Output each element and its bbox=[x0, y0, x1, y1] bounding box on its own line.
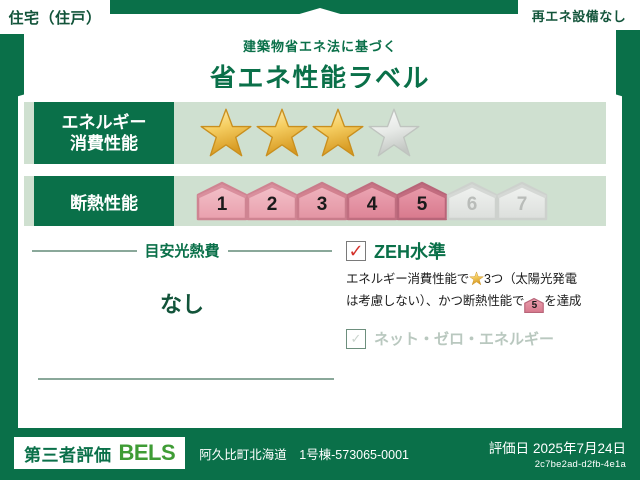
divider-left bbox=[32, 250, 137, 252]
house-grade-icon: 5 bbox=[524, 296, 544, 312]
label-footer: 第三者評価 BELS 阿久比町北海道 1号棟-573065-0001 評価日 2… bbox=[0, 426, 640, 480]
zeh-desc-part2: は考慮しない）、かつ断熱性能で bbox=[346, 294, 524, 308]
house-grade-icon-empty: 6 bbox=[446, 181, 498, 221]
house-grade-icon: 4 bbox=[346, 181, 398, 221]
star-icon bbox=[469, 271, 484, 292]
energy-label-line1: エネルギー bbox=[62, 112, 147, 133]
house-grade-icon: 1 bbox=[196, 181, 248, 221]
zeh-heading-row: ✓ ZEH水準 bbox=[346, 238, 608, 264]
grade-number: 6 bbox=[467, 194, 478, 221]
zeh-description: エネルギー消費性能で 3つ（太陽光発電は考慮しない）、かつ断熱性能で 5を達成 bbox=[346, 270, 608, 312]
grade-number: 4 bbox=[367, 194, 378, 221]
cost-bottom-divider bbox=[38, 378, 334, 380]
label-subtitle: 建築物省エネ法に基づく bbox=[0, 36, 640, 55]
energy-performance-label: 住宅（住戸） 再エネ設備なし 建築物省エネ法に基づく 省エネ性能ラベル エネルギ… bbox=[0, 0, 640, 480]
building-address: 阿久比町北海道 1号棟-573065-0001 bbox=[199, 444, 409, 463]
house-grade-icon: 2 bbox=[246, 181, 298, 221]
bels-jp-text: 第三者評価 bbox=[24, 441, 112, 466]
zeh-desc-grade: 5 bbox=[524, 296, 544, 315]
house-grade-icon: 3 bbox=[296, 181, 348, 221]
star-icon bbox=[255, 106, 309, 160]
insulation-performance-row: 断熱性能 1 2 bbox=[24, 176, 606, 226]
zeh-title: ZEH水準 bbox=[374, 238, 446, 264]
renewable-energy-tag: 再エネ設備なし bbox=[518, 0, 640, 30]
grade-number: 5 bbox=[417, 194, 428, 221]
zeh-desc-part3: を達成 bbox=[544, 294, 581, 308]
evaluation-date: 評価日 2025年7月24日 bbox=[489, 437, 626, 457]
grade-number: 7 bbox=[517, 194, 528, 221]
zeh-desc-stars: 3つ（太陽光発電 bbox=[484, 272, 577, 286]
star-icon-empty bbox=[367, 106, 421, 160]
insulation-grade-scale: 1 2 3 bbox=[196, 181, 546, 221]
label-title-block: 建築物省エネ法に基づく 省エネ性能ラベル bbox=[0, 36, 640, 95]
star-icon bbox=[311, 106, 365, 160]
net-zero-energy-row: ✓ ネット・ゼロ・エネルギー bbox=[346, 328, 608, 349]
estimated-utility-cost-heading: 目安光熱費 bbox=[32, 240, 332, 261]
star-icon bbox=[199, 106, 253, 160]
net-zero-energy-title: ネット・ゼロ・エネルギー bbox=[374, 328, 554, 349]
check-icon-empty: ✓ bbox=[346, 329, 366, 349]
zeh-desc-part1: エネルギー消費性能で bbox=[346, 272, 469, 286]
insulation-performance-label-box: 断熱性能 bbox=[34, 176, 174, 226]
divider-right bbox=[228, 250, 333, 252]
estimated-utility-cost-block: 目安光熱費 なし bbox=[32, 240, 332, 319]
bels-logo: BELS bbox=[119, 440, 176, 466]
house-grade-icon-empty: 7 bbox=[496, 181, 548, 221]
grade-number: 3 bbox=[317, 194, 328, 221]
cost-heading-text: 目安光熱費 bbox=[145, 240, 220, 261]
building-type-tag: 住宅（住戸） bbox=[0, 0, 110, 34]
energy-performance-label-box: エネルギー 消費性能 bbox=[34, 102, 174, 164]
label-content-card: エネルギー 消費性能 bbox=[24, 88, 616, 426]
energy-performance-row: エネルギー 消費性能 bbox=[24, 102, 606, 164]
grade-number: 2 bbox=[267, 194, 278, 221]
check-icon: ✓ bbox=[346, 241, 366, 261]
footer-right-block: 評価日 2025年7月24日 2c7be2ad-d2fb-4e1a bbox=[489, 437, 626, 470]
energy-label-line2: 消費性能 bbox=[70, 133, 138, 154]
evaluation-id: 2c7be2ad-d2fb-4e1a bbox=[489, 459, 626, 470]
zeh-block: ✓ ZEH水準 エネルギー消費性能で 3つ（太陽光発電は考慮しない）、かつ断熱性… bbox=[346, 238, 608, 349]
star-rating bbox=[199, 106, 421, 160]
house-grade-icon: 5 bbox=[396, 181, 448, 221]
bels-badge: 第三者評価 BELS bbox=[14, 437, 185, 469]
estimated-utility-cost-value: なし bbox=[32, 287, 332, 319]
grade-number: 1 bbox=[217, 194, 228, 221]
